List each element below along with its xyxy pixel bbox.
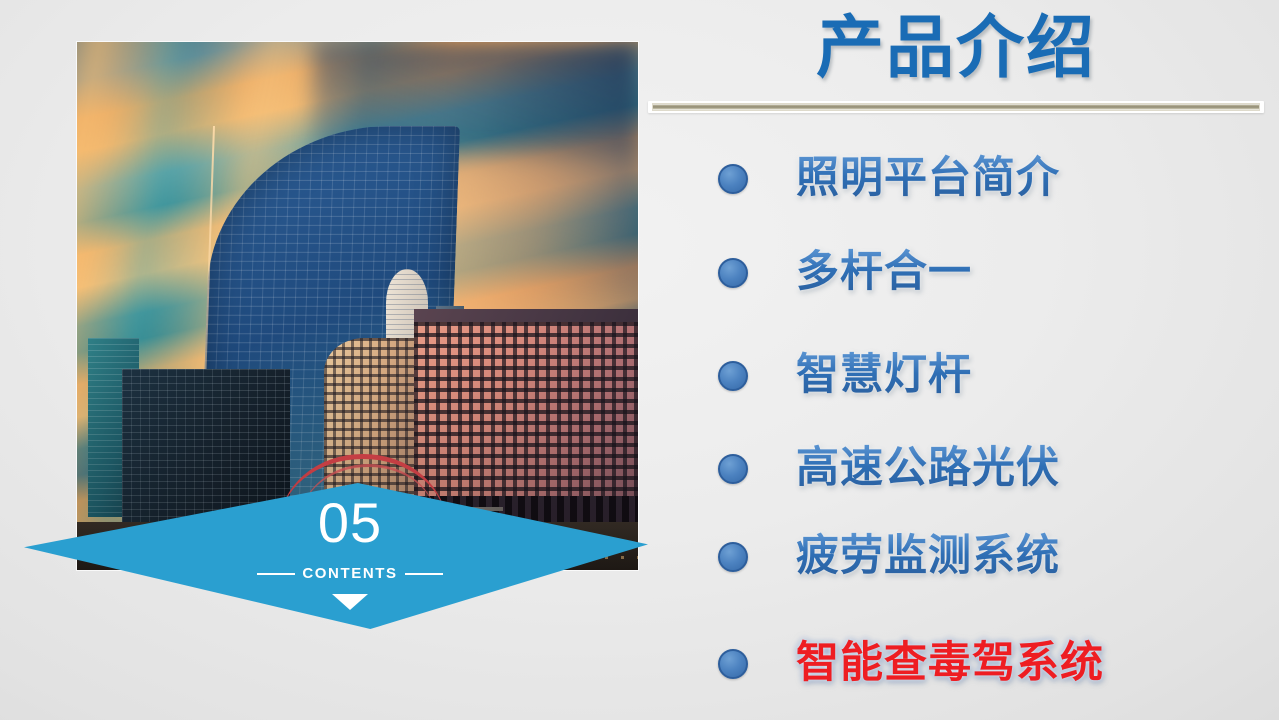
contents-number: 05 (237, 495, 463, 551)
bullet-marker-icon (718, 542, 748, 572)
list-item-label: 多杆合一 (796, 248, 972, 297)
list-item[interactable]: 高速公路光伏 (648, 444, 1273, 493)
list-item-label: 智慧灯杆 (796, 351, 972, 400)
list-item-label: 疲劳监测系统 (796, 532, 1060, 581)
page-title: 产品介绍 (648, 8, 1264, 88)
list-item[interactable]: 智慧灯杆 (648, 351, 1273, 400)
caret-down-icon (332, 594, 368, 610)
list-item[interactable]: 疲劳监测系统 (648, 532, 1273, 581)
list-item-label: 高速公路光伏 (796, 444, 1060, 493)
divider-bar (652, 103, 1260, 111)
list-item[interactable]: 多杆合一 (648, 248, 1273, 297)
contents-label-row: CONTENTS (237, 565, 463, 582)
rule-left (257, 573, 295, 575)
bullet-marker-icon (718, 164, 748, 194)
list-item-label: 照明平台简介 (796, 154, 1060, 203)
list-item[interactable]: 照明平台简介 (648, 154, 1273, 203)
bullet-marker-icon (718, 454, 748, 484)
presentation-slide: 05 CONTENTS 产品介绍 照明平台简介 多杆合一 智慧灯杆 高速公路光伏 (0, 0, 1279, 720)
list-item[interactable]: 智能查毒驾系统 (648, 639, 1273, 688)
bullet-marker-icon (718, 258, 748, 288)
contents-label: CONTENTS (302, 565, 397, 582)
title-divider (648, 101, 1264, 113)
contents-badge: 05 CONTENTS (237, 495, 463, 635)
list-item-label: 智能查毒驾系统 (796, 639, 1104, 688)
bullet-marker-icon (718, 361, 748, 391)
rule-right (405, 573, 443, 575)
bullet-marker-icon (718, 649, 748, 679)
agenda-list: 照明平台简介 多杆合一 智慧灯杆 高速公路光伏 疲劳监测系统 智能查毒驾系统 (648, 126, 1273, 706)
